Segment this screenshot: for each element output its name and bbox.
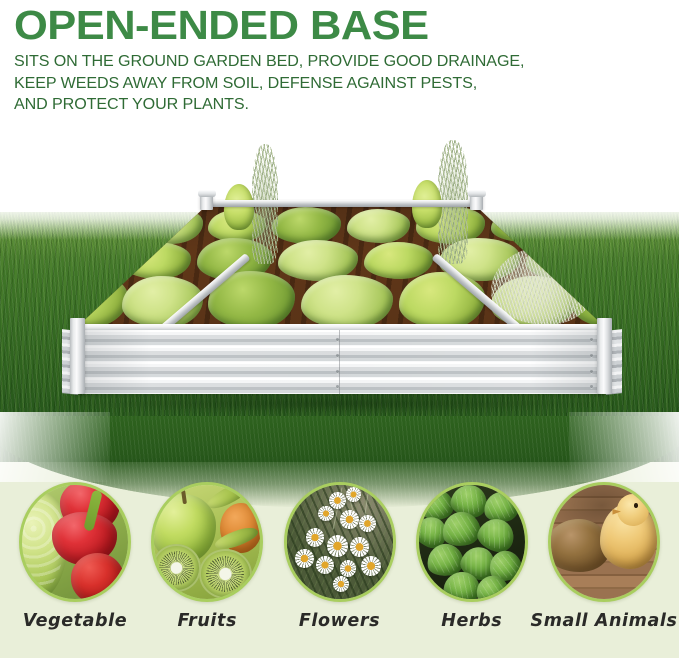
category-label: Small Animals <box>531 611 678 631</box>
category-item-herbs: Herbs <box>411 482 533 631</box>
category-item-small-animals: Small Animals <box>543 482 665 631</box>
herbs-photo <box>419 485 525 599</box>
vegetables-photo <box>22 485 128 599</box>
herbs-icon <box>416 482 528 602</box>
bed-soil-surface <box>74 202 608 330</box>
product-feature-panel: OPEN-ENDED BASE SITS ON THE GROUND GARDE… <box>0 0 679 658</box>
page-title: OPEN-ENDED BASE <box>14 4 679 46</box>
panel-rivets <box>336 338 344 388</box>
subtitle-line-2: KEEP WEEDS AWAY FROM SOIL, DEFENSE AGAIN… <box>14 73 679 95</box>
flowers-icon <box>284 482 396 602</box>
corner-post-front-left <box>70 318 85 394</box>
corner-post-front-right <box>597 318 612 394</box>
fruits-photo <box>154 485 260 599</box>
category-list: Vegetable Fruits <box>0 482 679 658</box>
fruits-icon <box>151 482 263 602</box>
lawn-fade-left <box>0 412 110 482</box>
category-label: Fruits <box>177 611 237 631</box>
category-item-vegetable: Vegetable <box>14 482 136 631</box>
lawn-fade-right <box>569 412 679 482</box>
leaf-frill-left <box>224 184 254 230</box>
category-item-fruits: Fruits <box>146 482 268 631</box>
small-animals-icon <box>548 482 660 602</box>
vegetable-icon <box>19 482 131 602</box>
flowers-photo <box>287 485 393 599</box>
raised-garden-bed <box>56 190 626 403</box>
category-label: Flowers <box>299 611 380 631</box>
subtitle-line-3: AND PROTECT YOUR PLANTS. <box>14 94 679 116</box>
bed-rim-back <box>210 200 474 207</box>
subtitle-line-1: SITS ON THE GROUND GARDEN BED, PROVIDE G… <box>14 51 679 73</box>
header-copy-block: OPEN-ENDED BASE SITS ON THE GROUND GARDE… <box>0 0 679 130</box>
category-strip: Vegetable Fruits <box>0 462 679 658</box>
corner-cap-back-left <box>198 190 216 197</box>
category-label: Herbs <box>441 611 502 631</box>
page-subtitle: SITS ON THE GROUND GARDEN BED, PROVIDE G… <box>14 51 679 116</box>
planted-vegetables <box>74 202 608 330</box>
category-label: Vegetable <box>23 611 128 631</box>
corner-cap-back-right <box>468 190 486 197</box>
category-item-flowers: Flowers <box>279 482 401 631</box>
small-animals-photo <box>551 485 657 599</box>
